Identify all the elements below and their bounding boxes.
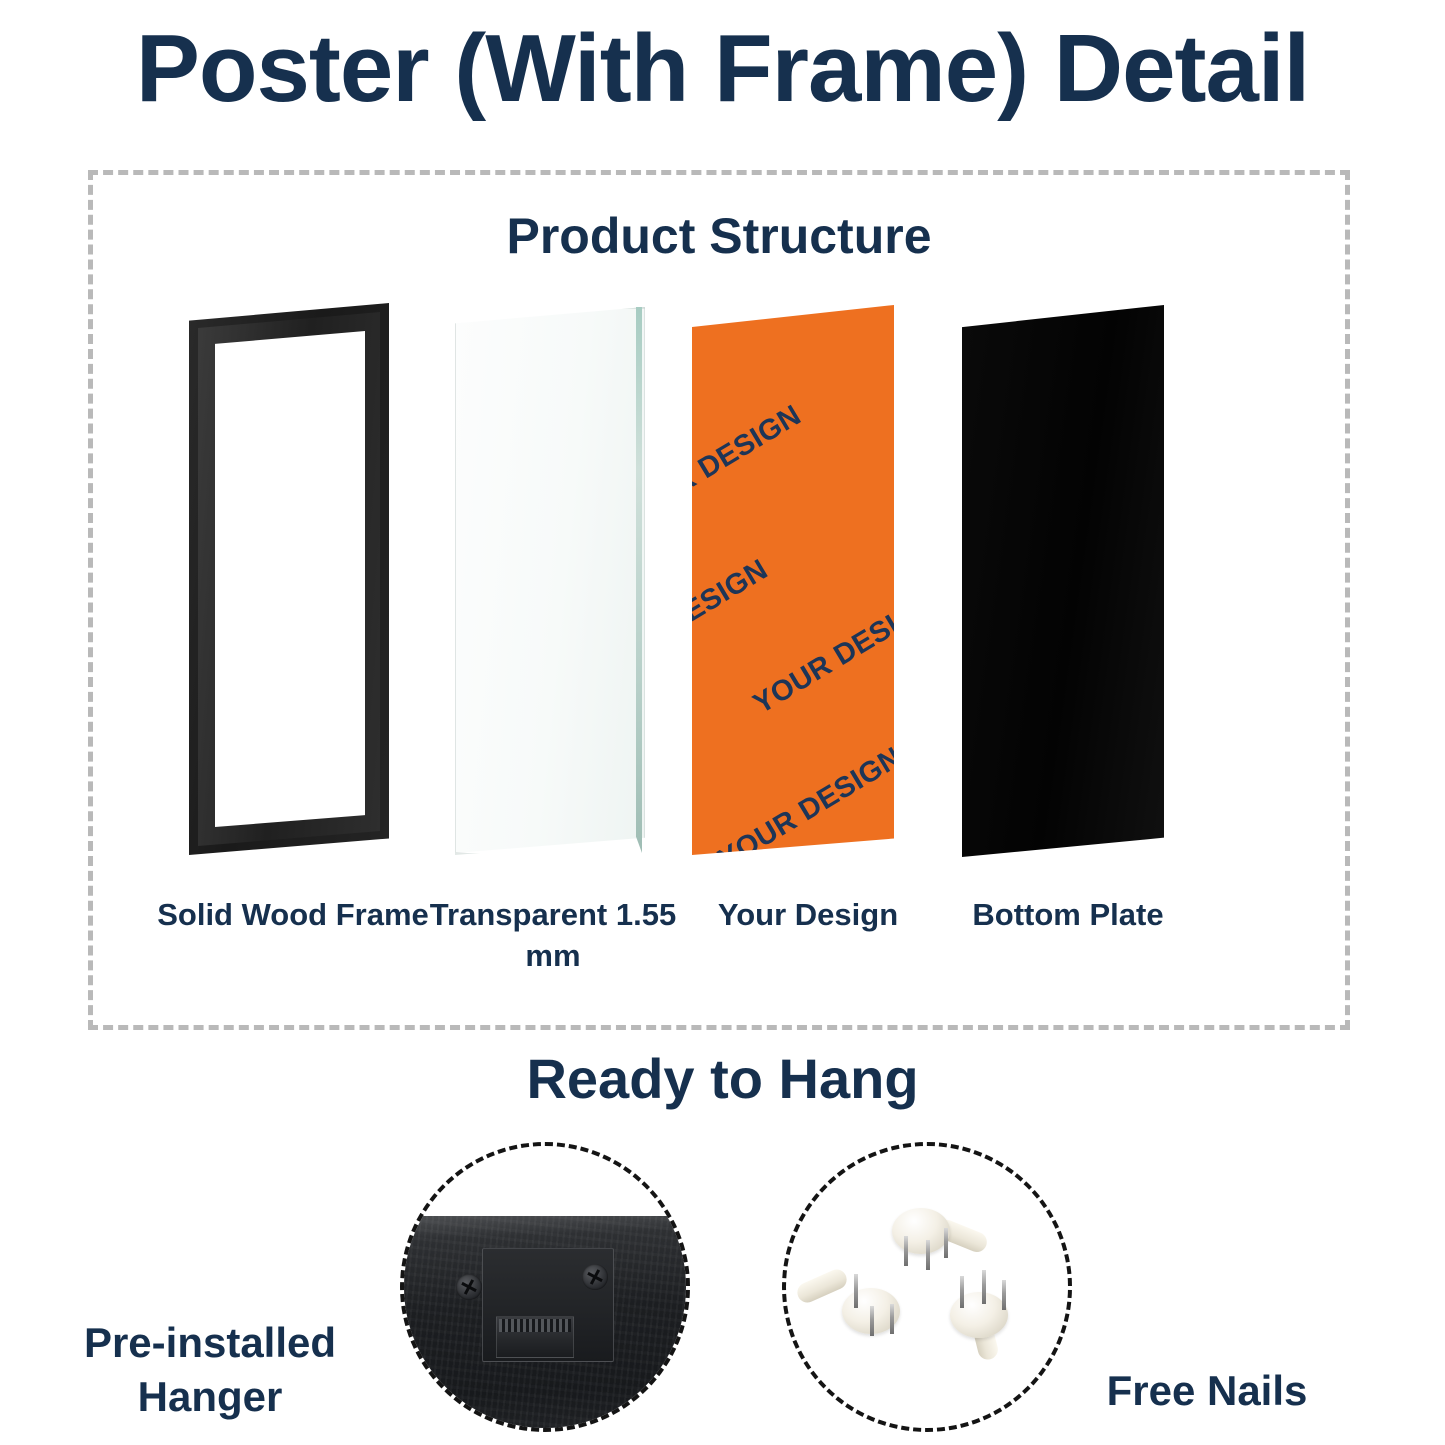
ready-to-hang-item-hanger: [400, 1142, 690, 1432]
screw-icon: [582, 1264, 608, 1290]
wall-nail-icon: [836, 1268, 912, 1344]
part-label-solid-wood-frame: Solid Wood Frame: [143, 895, 443, 936]
sawtooth-hanger-photo-icon: [400, 1142, 690, 1432]
transparent-sheet-icon: [423, 295, 683, 865]
sawtooth-hanger-icon: [496, 1316, 574, 1358]
screw-icon: [456, 1274, 482, 1300]
part-label-bottom-plate: Bottom Plate: [918, 895, 1218, 936]
poster-detail-page: Poster (With Frame) Detail Product Struc…: [0, 0, 1445, 1445]
part-solid-wood-frame: Solid Wood Frame: [163, 295, 423, 1035]
part-your-design: YOUR DESIGN YOUR DESIGN YOUR DESIGN YOUR…: [678, 295, 938, 1035]
part-transparent-sheet: Transparent 1.55 mm: [423, 295, 683, 1035]
ready-to-hang-item-nails: [782, 1142, 1072, 1432]
part-label-your-design: Your Design: [658, 895, 958, 936]
page-title: Poster (With Frame) Detail: [0, 14, 1445, 124]
wall-nail-icon: [884, 1192, 960, 1268]
ready-to-hang-label-nails: Free Nails: [1042, 1364, 1372, 1418]
product-structure-panel: Product Structure Solid Wood Frame Tran: [88, 170, 1350, 1030]
exploded-parts-row: Solid Wood Frame Transparent 1.55 mm YOU…: [93, 295, 1345, 1035]
wood-frame-icon: [163, 295, 423, 865]
your-design-sheet-icon: YOUR DESIGN YOUR DESIGN YOUR DESIGN YOUR…: [678, 295, 938, 865]
wall-nail-icon: [944, 1274, 1020, 1350]
ready-to-hang-label-hanger: Pre-installed Hanger: [40, 1316, 380, 1424]
bottom-plate-icon: [938, 295, 1198, 865]
product-structure-heading: Product Structure: [93, 207, 1345, 265]
ready-to-hang-heading: Ready to Hang: [0, 1046, 1445, 1111]
wall-nails-photo-icon: [782, 1142, 1072, 1432]
part-bottom-plate: Bottom Plate: [938, 295, 1198, 1035]
